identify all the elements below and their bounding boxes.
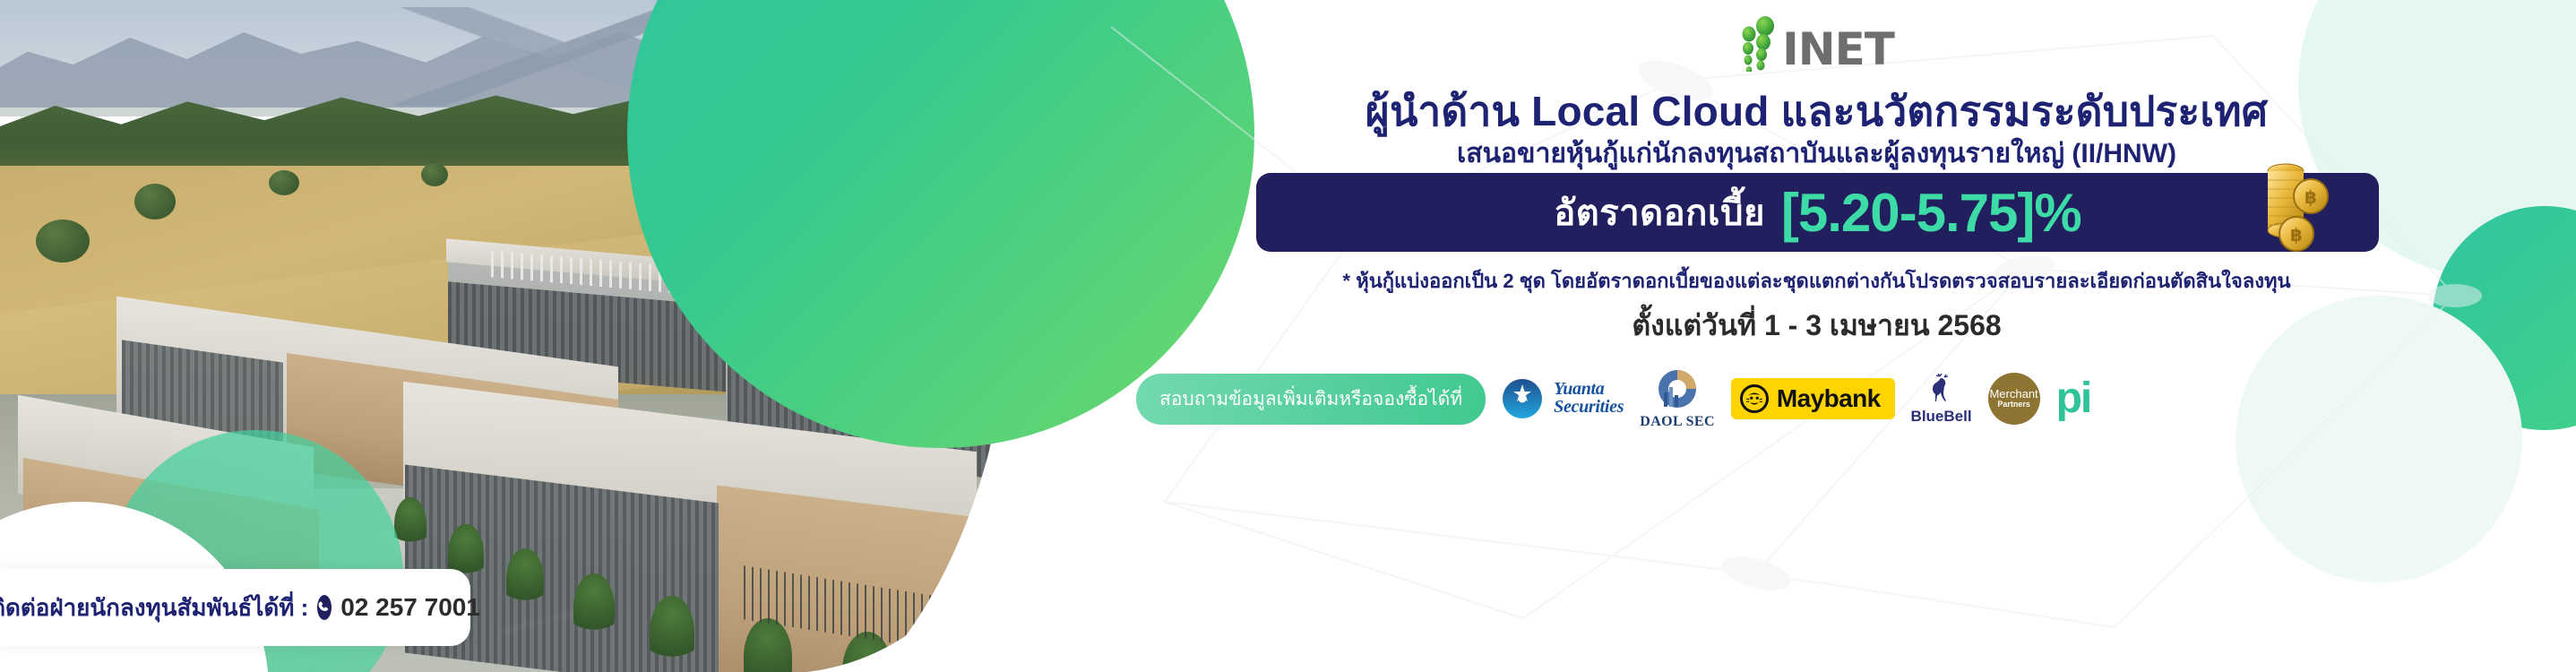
bluebell-label: BlueBell — [1911, 408, 1972, 426]
merchant-line2: Partners — [1997, 401, 2030, 409]
daol-circle-icon — [1655, 367, 1700, 412]
investor-relations-contact: ติดต่อฝ่ายนักลงทุนสัมพันธ์ได้ที่ : 02 25… — [0, 569, 470, 646]
phone-icon — [317, 595, 332, 620]
banner-content: INET ผู้นำด้าน Local Cloud และนวัตกรรมระ… — [1057, 0, 2576, 672]
logo-wordmark: INET — [1782, 27, 1894, 72]
merchant-line1: Merchant — [1989, 388, 2038, 401]
partner-logo-daol[interactable]: DAOL SEC — [1640, 367, 1715, 430]
interest-rate-box: อัตราดอกเบี้ย [5.20-5.75]% — [1256, 173, 2379, 252]
partner-logo-maybank[interactable]: Maybank — [1731, 378, 1895, 419]
daol-label: DAOL SEC — [1640, 414, 1715, 430]
page-subtitle: เสนอขายหุ้นกู้แก่นักลงทุนสถาบันและผู้ลงท… — [1057, 133, 2576, 175]
contact-label: ติดต่อฝ่ายนักลงทุนสัมพันธ์ได้ที่ : — [0, 590, 308, 626]
inet-dots-logo-icon — [1739, 16, 1779, 72]
yuanta-line2: Securities — [1554, 399, 1624, 417]
partner-logo-yuanta[interactable]: Yuanta Securities — [1502, 378, 1624, 419]
pi-wordmark-icon: pi — [2056, 382, 2091, 416]
footnote-text: * หุ้นกู้แบ่งออกเป็น 2 ชุด โดยอัตราดอกเบ… — [1057, 265, 2576, 297]
interest-rate-label: อัตราดอกเบี้ย — [1554, 184, 1765, 241]
bluebell-deer-icon — [1925, 373, 1959, 407]
maybank-tiger-icon — [1740, 384, 1769, 413]
brand-logo: INET — [1057, 16, 2576, 72]
partner-strip: สอบถามข้อมูลเพิ่มเติมหรือจองซื้อได้ที่ — [1057, 367, 2576, 430]
svg-text:฿: ฿ — [2305, 186, 2317, 208]
promo-banner: INET ผู้นำด้าน Local Cloud และนวัตกรรมระ… — [0, 0, 2576, 672]
contact-phone-number: 02 257 7001 — [340, 593, 480, 622]
partner-logo-bluebell[interactable]: BlueBell — [1911, 373, 1972, 426]
yuanta-star-icon — [1502, 378, 1543, 419]
partner-logo-merchant[interactable]: Merchant Partners — [1988, 373, 2040, 425]
gold-coins-icon: ฿ ฿ — [2259, 157, 2336, 257]
svg-text:฿: ฿ — [2290, 224, 2303, 246]
cta-inquiry-button[interactable]: สอบถามข้อมูลเพิ่มเติมหรือจองซื้อได้ที่ — [1136, 374, 1486, 425]
offer-date-range: ตั้งแต่วันที่ 1 - 3 เมษายน 2568 — [1057, 303, 2576, 349]
interest-rate-value: [5.20-5.75]% — [1781, 182, 2081, 244]
partner-logo-pi[interactable]: pi — [2056, 382, 2091, 416]
maybank-label: Maybank — [1777, 384, 1881, 413]
